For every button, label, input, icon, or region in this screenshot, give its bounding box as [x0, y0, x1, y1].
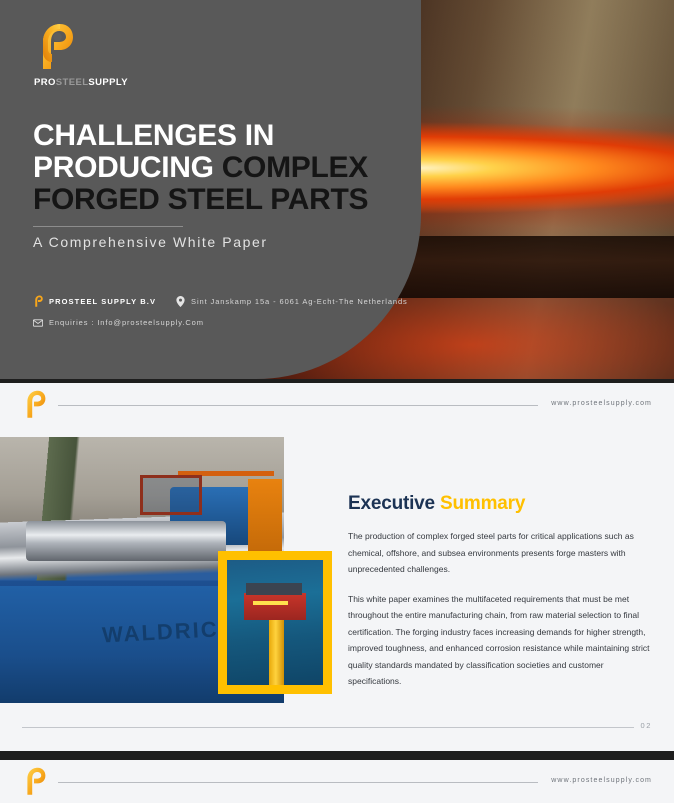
monopile-leg	[269, 615, 284, 685]
footer-divider	[22, 727, 634, 728]
contact-address: Sint Janskamp 15a - 6061 Ag-Echt-The Net…	[176, 296, 408, 307]
brand-wordmark: PROSTEELSUPPLY	[34, 77, 128, 88]
brand-logo: PROSTEELSUPPLY	[34, 22, 128, 88]
location-pin-icon	[176, 296, 185, 307]
operator-cage	[140, 475, 202, 515]
contact-row-primary: PROSTEEL SUPPLY B.V Sint Janskamp 15a - …	[33, 295, 428, 307]
cover-title-line2b: COMPLEX	[222, 151, 368, 184]
page-three: www.prosteelsupply.com	[0, 760, 674, 803]
cover-subtitle: A Comprehensive White Paper	[33, 234, 268, 250]
offshore-platform-photo	[218, 551, 332, 694]
cover-contact-block: PROSTEEL SUPPLY B.V Sint Janskamp 15a - …	[33, 295, 428, 338]
summary-paragraph-2: This white paper examines the multifacet…	[348, 591, 652, 690]
cover-title-line2a: PRODUCING	[33, 151, 222, 184]
cover-title-line3: FORGED STEEL PARTS	[33, 183, 368, 216]
offshore-photo-inner	[227, 560, 323, 685]
wordmark-pro: PRO	[34, 77, 56, 88]
page-number: 02	[640, 721, 652, 730]
platform-deck	[244, 593, 305, 621]
prosteel-p-logo-icon	[22, 766, 46, 796]
header-divider	[58, 782, 538, 783]
summary-title-part-a: Executive	[348, 493, 440, 514]
wordmark-steel: STEEL	[56, 77, 89, 88]
wordmark-supply: SUPPLY	[88, 77, 128, 88]
contact-row-email: Enquiries : Info@prosteelsupply.Com	[33, 318, 428, 327]
contact-email[interactable]: Enquiries : Info@prosteelsupply.Com	[33, 318, 204, 327]
document-viewer[interactable]: PROSTEELSUPPLY CHALLENGES INPRODUCING CO…	[0, 0, 674, 803]
cover-page: PROSTEELSUPPLY CHALLENGES INPRODUCING CO…	[0, 0, 674, 379]
contact-company-label: PROSTEEL SUPPLY B.V	[49, 297, 156, 306]
summary-paragraph-1: The production of complex forged steel p…	[348, 528, 652, 578]
prosteel-p-logo-icon	[33, 295, 43, 307]
cover-title: CHALLENGES INPRODUCING COMPLEXFORGED STE…	[33, 120, 393, 216]
contact-company: PROSTEEL SUPPLY B.V	[33, 295, 156, 307]
page-three-header: www.prosteelsupply.com	[0, 760, 674, 803]
cover-gray-panel: PROSTEELSUPPLY CHALLENGES INPRODUCING CO…	[0, 0, 421, 379]
platform-topside	[246, 583, 302, 596]
prosteel-p-logo-icon	[34, 22, 74, 70]
executive-summary-block: Executive Summary The production of comp…	[348, 493, 652, 690]
cover-title-line1: CHALLENGES IN	[33, 119, 274, 152]
header-divider	[58, 405, 538, 406]
page-two: www.prosteelsupply.com Executive Summary…	[0, 383, 674, 751]
prosteel-p-logo-icon	[22, 389, 46, 419]
steel-shaft	[26, 521, 226, 561]
cover-divider	[33, 226, 183, 227]
page-two-header: www.prosteelsupply.com	[0, 383, 674, 427]
executive-summary-title: Executive Summary	[348, 493, 652, 515]
summary-title-part-b: Summary	[440, 493, 525, 514]
contact-email-label: Enquiries : Info@prosteelsupply.Com	[49, 318, 204, 327]
envelope-icon	[33, 319, 43, 327]
contact-address-label: Sint Janskamp 15a - 6061 Ag-Echt-The Net…	[191, 297, 408, 306]
header-website-url[interactable]: www.prosteelsupply.com	[551, 400, 652, 407]
header-website-url[interactable]: www.prosteelsupply.com	[551, 777, 652, 784]
